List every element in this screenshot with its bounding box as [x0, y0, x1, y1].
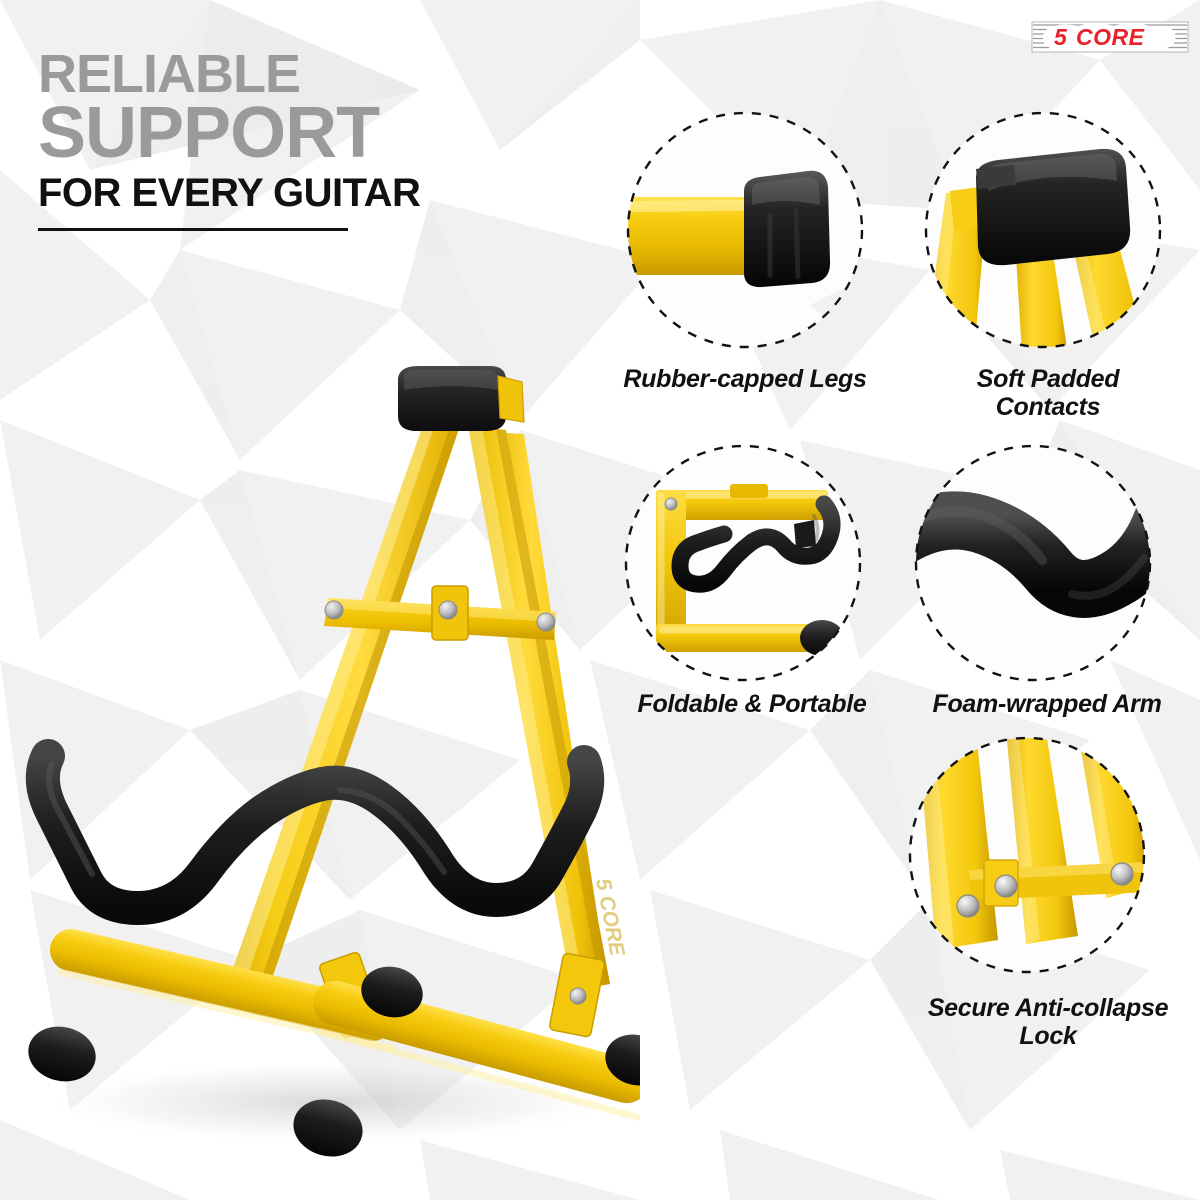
callout-circle-5: [902, 730, 1194, 980]
callout-label-2-line2: Contacts: [918, 393, 1178, 421]
callout-circle-2: [918, 105, 1178, 355]
callout-foam-wrapped-arm: Foam-wrapped Arm: [908, 438, 1186, 718]
headline-divider-rule: [38, 228, 348, 231]
callout-label-4: Foam-wrapped Arm: [908, 690, 1186, 718]
callout-soft-padded-contacts: Soft Padded Contacts: [918, 105, 1178, 422]
callout-label-5-line1: Secure Anti-collapse: [902, 994, 1194, 1022]
logo-number: 5: [1054, 24, 1068, 50]
callout-foldable-portable: Foldable & Portable: [618, 438, 886, 718]
callout-circle-4: [908, 438, 1186, 688]
callout-rubber-capped-legs: Rubber-capped Legs: [620, 105, 870, 393]
brand-logo: 5 CORE: [1030, 14, 1190, 60]
callout-secure-anti-collapse-lock: Secure Anti-collapse Lock: [902, 730, 1194, 1051]
hero-hinge-right: [549, 953, 605, 1038]
callout-label-5: Secure Anti-collapse Lock: [902, 994, 1194, 1051]
callout-label-2-line1: Soft Padded: [918, 365, 1178, 393]
callout-label-3: Foldable & Portable: [618, 690, 886, 718]
hero-top-yoke-tab: [498, 376, 524, 422]
callout-circle-1: [620, 105, 870, 355]
headline-line-2: SUPPORT: [38, 100, 558, 166]
callout-label-1: Rubber-capped Legs: [620, 365, 870, 393]
callout-label-5-line2: Lock: [902, 1022, 1194, 1050]
headline-line-3: FOR EVERY GUITAR: [38, 170, 558, 216]
hero-product-image: 5 CORE: [0, 360, 640, 1180]
callout-circle-3: [618, 438, 886, 688]
callout-label-2: Soft Padded Contacts: [918, 365, 1178, 422]
headline-block: RELIABLE SUPPORT FOR EVERY GUITAR: [38, 50, 558, 231]
logo-word: CORE: [1076, 24, 1145, 50]
hero-foot-cap-1: [23, 1020, 101, 1088]
